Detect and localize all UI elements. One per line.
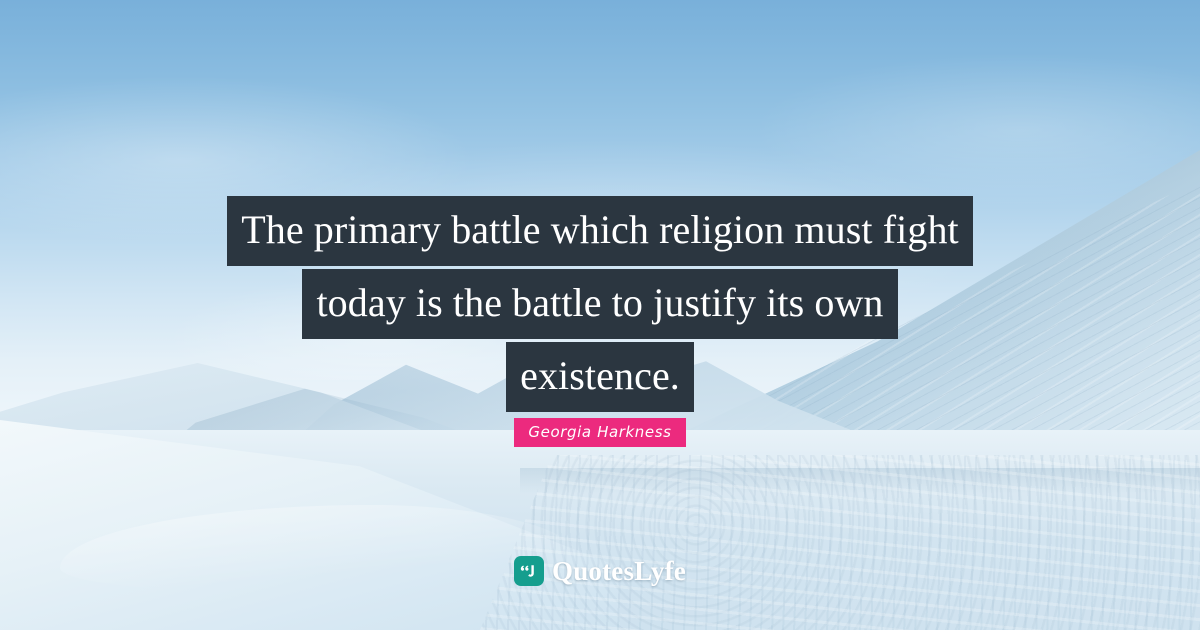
- author-name-badge: Georgia Harkness: [514, 418, 685, 447]
- quote-line-1: The primary battle which religion must f…: [227, 196, 973, 266]
- site-logo[interactable]: QuotesLyfe: [0, 556, 1200, 586]
- quote-mark-icon: [514, 556, 544, 586]
- quote-line-3: existence.: [506, 342, 694, 412]
- foreground-snow-texture: [480, 455, 1200, 630]
- author-badge-container: Georgia Harkness: [0, 418, 1200, 447]
- quote-line-2: today is the battle to justify its own: [302, 269, 897, 339]
- site-logo-text: QuotesLyfe: [552, 558, 686, 585]
- quote-block: The primary battle which religion must f…: [0, 196, 1200, 415]
